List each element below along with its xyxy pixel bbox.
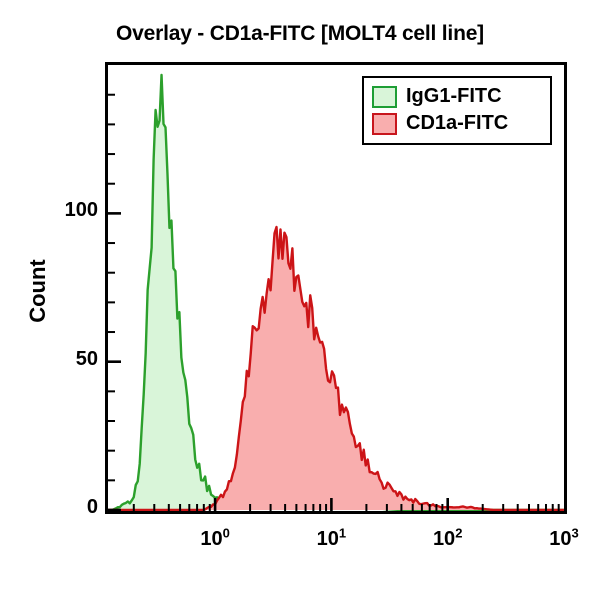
legend-label-cd1a-fitc: CD1a-FITC — [406, 112, 508, 135]
x-tick-label-1000: 103 — [519, 528, 600, 551]
legend-item-cd1a-fitc[interactable]: CD1a-FITC — [372, 110, 542, 137]
x-tick-mantissa-0: 10 — [200, 528, 222, 550]
x-tick-exponent-0: 0 — [223, 525, 230, 540]
legend-label-igg1-fitc: IgG1-FITC — [406, 85, 502, 108]
legend-item-igg1-fitc[interactable]: IgG1-FITC — [372, 83, 542, 110]
x-tick-mantissa-1: 10 — [317, 528, 339, 550]
x-tick-label-100: 102 — [403, 528, 493, 551]
x-tick-mantissa-3: 10 — [549, 528, 571, 550]
x-tick-mantissa-2: 10 — [433, 528, 455, 550]
legend-swatch-icon-igg1-fitc — [372, 86, 397, 108]
chart-legend: IgG1-FITC CD1a-FITC — [362, 76, 552, 145]
legend-swatch-icon-cd1a-fitc — [372, 113, 397, 135]
flow-cytometry-histogram-figure: Overlay - CD1a-FITC [MOLT4 cell line] 0 … — [0, 0, 600, 600]
x-tick-label-1: 100 — [170, 528, 260, 551]
x-tick-exponent-3: 3 — [572, 525, 579, 540]
x-tick-exponent-1: 1 — [339, 525, 346, 540]
x-tick-label-10: 101 — [286, 528, 376, 551]
x-tick-exponent-2: 2 — [455, 525, 462, 540]
